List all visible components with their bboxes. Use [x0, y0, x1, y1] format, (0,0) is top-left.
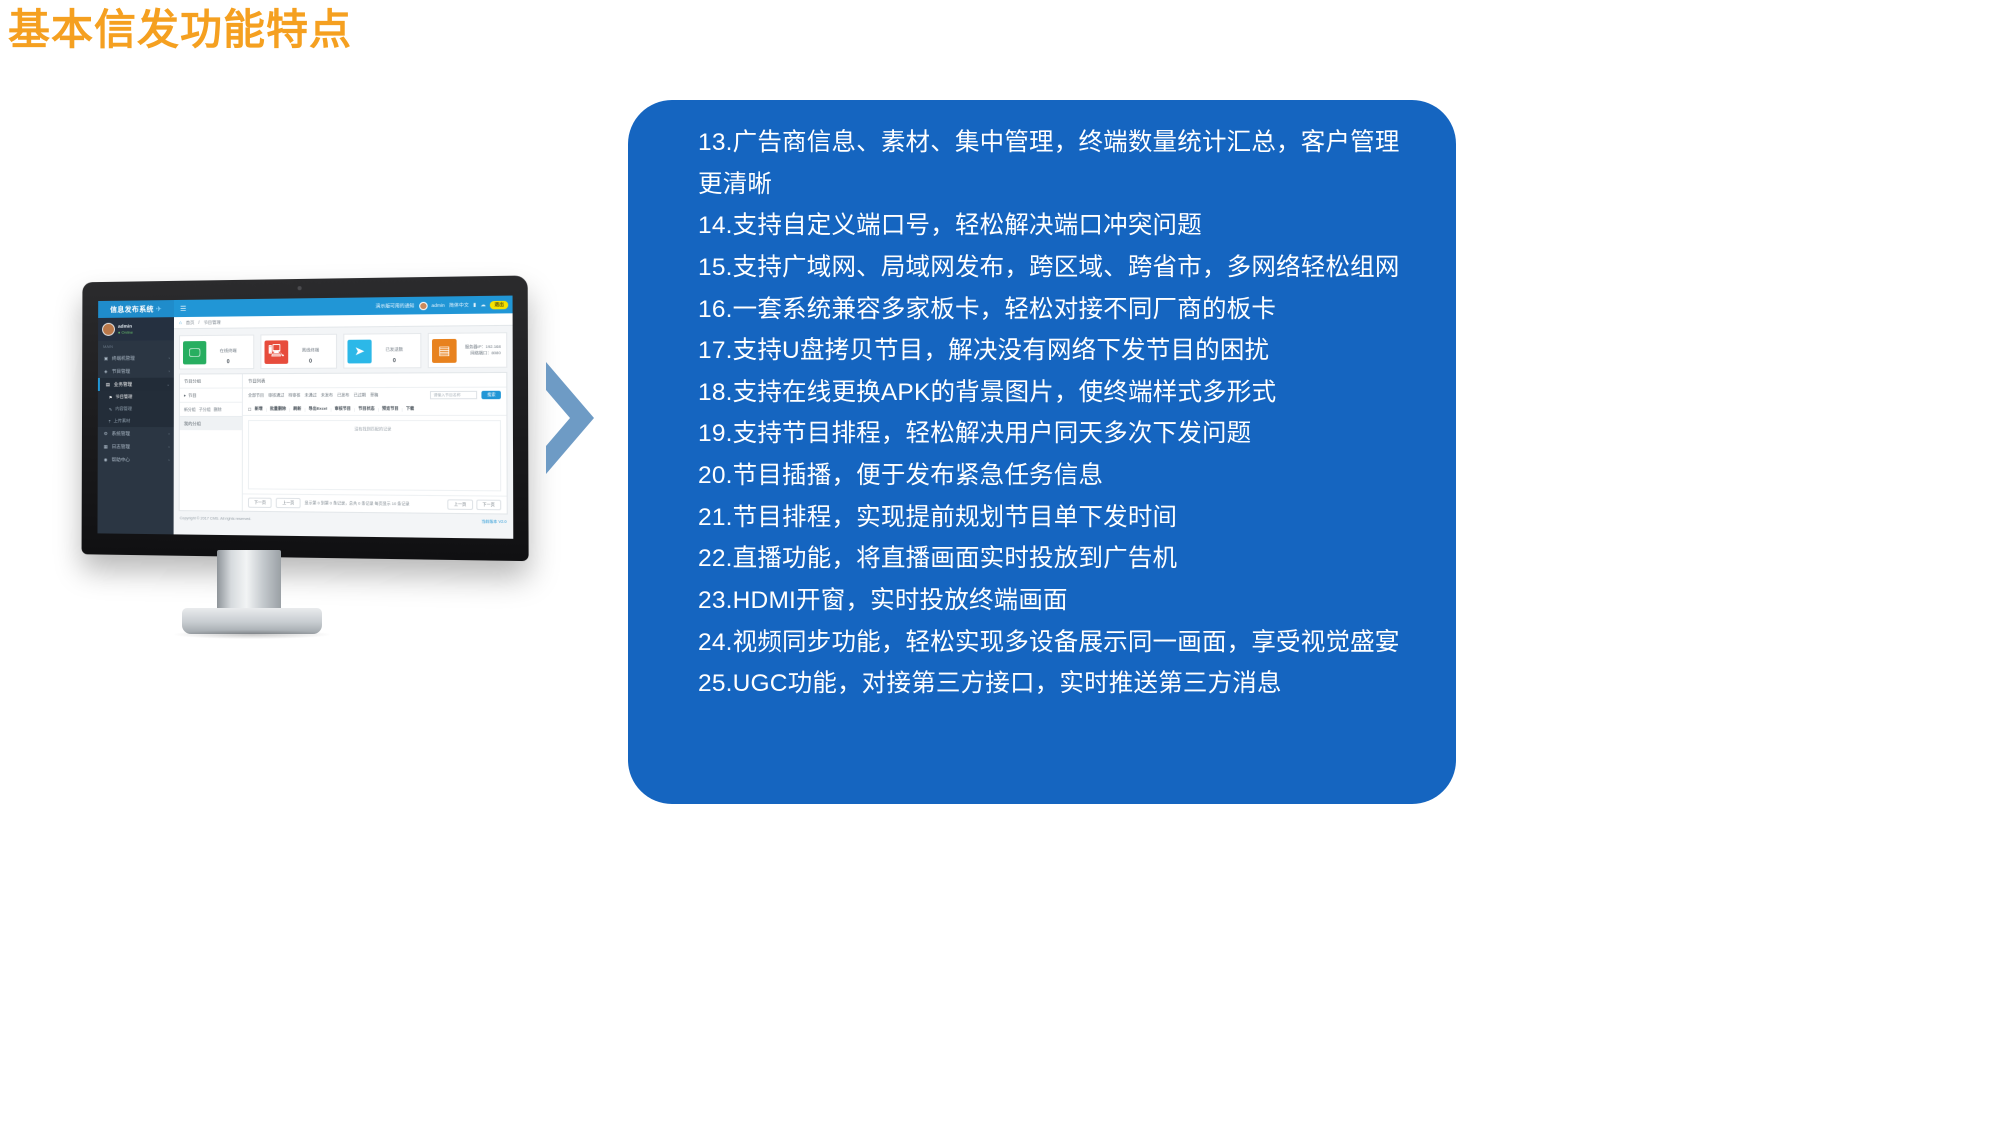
sidebar-subitem-label: 内容管理	[115, 406, 132, 412]
content-panel: 节目分组 ▸ 节目 新分组 子分组 删除 我的分组	[179, 372, 508, 515]
delete-group-button[interactable]: 删除	[214, 406, 222, 412]
my-group-label: 我的分组	[180, 416, 242, 430]
review-program-button[interactable]: 审核节目	[335, 406, 351, 412]
list-item: 13.广告商信息、素材、集中管理，终端数量统计汇总，客户管理更清晰	[698, 122, 1420, 205]
upload-icon: ⤒	[109, 419, 111, 424]
stat-cards: 🖵 在线终端 0 🖳 离线终端 0	[174, 326, 513, 374]
chevron-right-icon: ›	[168, 457, 169, 462]
sidebar-item-label: 节目管理	[112, 368, 130, 374]
breadcrumb-level1[interactable]: 首页	[186, 319, 194, 325]
sidebar-user: admin ● Online	[98, 317, 174, 341]
features-list: 13.广告商信息、素材、集中管理，终端数量统计汇总，客户管理更清晰 14.支持自…	[698, 122, 1420, 705]
monitor-shadow	[174, 630, 330, 639]
app-body: admin ● Online MAIN ▣ 终端机管理 › ◈ 节目管理 ›	[97, 313, 513, 538]
empty-state: 没有找到匹配的记录	[248, 420, 501, 491]
monitor-bezel: 信息发布系统 ✈ ☰ 演示版可用的通知 admin 简体中文 ▮ ☁ 退出	[82, 275, 529, 561]
prev-page-button[interactable]: 上一页	[276, 498, 300, 508]
list-item: 16.一套系统兼容多家板卡，轻松对接不同厂商的板卡	[698, 289, 1420, 331]
sidebar-item-label: 帮助中心	[112, 457, 130, 463]
filter-draft[interactable]: 草稿	[370, 392, 378, 398]
avatar	[102, 323, 115, 336]
stat-card-label: 离线终端	[302, 347, 319, 352]
stat-card-value: 0	[288, 358, 333, 364]
folder-icon: ▸	[184, 393, 186, 398]
search-button[interactable]: 搜索	[482, 391, 501, 399]
topbar-lang-label[interactable]: 简体中文	[449, 302, 469, 308]
home-icon[interactable]: ⌂	[179, 320, 182, 325]
group-tree-toolbar: 新分组 子分组 删除	[180, 402, 242, 416]
stat-card-offline[interactable]: 🖳 离线终端 0	[260, 334, 337, 369]
webcam-icon	[298, 286, 302, 290]
stat-card-value: 0	[372, 358, 417, 364]
separator: |	[402, 406, 403, 411]
desktop-icon: 🖳	[264, 340, 288, 364]
film-icon: ◈	[103, 368, 109, 374]
group-tree-pane: 节目分组 ▸ 节目 新分组 子分组 删除 我的分组	[180, 374, 243, 511]
separator: |	[304, 406, 305, 411]
footer: Copyright © 2017 CMS. All rights reserve…	[174, 511, 514, 525]
app-main: ⌂ 首页 / 节目管理 🖵 在线终端 0	[174, 313, 514, 538]
sidebar-subitem-label: 节目管理	[116, 394, 133, 400]
list-item: 20.节目插播，便于发布紧急任务信息	[698, 455, 1420, 497]
brand-logo-icon: ✈	[156, 305, 162, 313]
filter-unpublished[interactable]: 未发布	[321, 392, 333, 398]
monitor-neck	[217, 550, 281, 612]
version-text: 当前版本 V2.0	[481, 520, 506, 526]
pagination-info: 显示第 0 到第 0 条记录，总共 0 条记录 每页显示 10 条记录	[305, 501, 410, 507]
new-group-button[interactable]: 新分组	[184, 406, 196, 412]
list-item: 24.视频同步功能，轻松实现多设备展示同一画面，享受视觉盛宴	[698, 622, 1420, 664]
pagination-next-button[interactable]: 下一页	[476, 500, 501, 511]
search-input[interactable]: 请输入节目名称	[430, 391, 477, 399]
action-toolbar: ☐ 新增 | 批量删除 | 刷新 | 导出Excel | 审核节目 |	[243, 402, 506, 416]
sidebar-user-status: ● Online	[118, 330, 133, 335]
sidebar-subitem-program-manage[interactable]: ⚑ 节目管理	[98, 391, 174, 403]
breadcrumb-separator: /	[198, 320, 199, 325]
checkbox-select-all[interactable]: ☐	[248, 406, 252, 411]
copyright-text: Copyright © 2017 CMS. All rights reserve…	[180, 516, 252, 522]
program-status-button[interactable]: 节目状态	[358, 406, 374, 412]
bell-icon[interactable]: ▮	[473, 302, 476, 308]
briefcase-icon: ▤	[105, 381, 111, 387]
pencil-icon: ✎	[109, 406, 113, 411]
filter-expired[interactable]: 已过期	[354, 392, 366, 398]
topbar-right-group: 演示版可用的通知 admin 简体中文 ▮ ☁ 退出	[376, 296, 509, 315]
list-item: 21.节目排程，实现提前规划节目单下发时间	[698, 497, 1420, 539]
sidebar-item-label: 系统管理	[112, 431, 130, 437]
separator: |	[354, 406, 355, 411]
sub-group-button[interactable]: 子分组	[199, 406, 211, 412]
program-list-header: 节目列表	[243, 373, 506, 389]
chevron-right-icon	[542, 358, 602, 478]
stat-card-label: 已发送数	[385, 347, 403, 352]
list-item: 15.支持广域网、局域网发布，跨区域、跨省市，多网络轻松组网	[698, 247, 1420, 289]
topbar-user-label[interactable]: admin	[431, 303, 444, 308]
stat-card-label: 在线终端	[220, 348, 237, 353]
add-button[interactable]: 新增	[255, 406, 263, 412]
monitor-screen: 信息发布系统 ✈ ☰ 演示版可用的通知 admin 简体中文 ▮ ☁ 退出	[97, 296, 513, 539]
monitor-illustration: 信息发布系统 ✈ ☰ 演示版可用的通知 admin 简体中文 ▮ ☁ 退出	[82, 278, 522, 648]
stat-card-server[interactable]: ▤ 服务器IP：192.168 网络端口：8080	[428, 332, 508, 368]
separator: |	[289, 406, 290, 411]
sidebar-subitem-content-manage[interactable]: ✎ 内容管理	[98, 403, 174, 415]
flag-icon: ⚑	[109, 394, 113, 399]
filter-all[interactable]: 全部节目	[248, 393, 264, 399]
send-icon: ➤	[347, 339, 371, 363]
logout-button[interactable]: 退出	[490, 300, 508, 309]
help-icon: ◉	[103, 457, 109, 463]
list-item: 25.UGC功能，对接第三方接口，实时推送第三方消息	[698, 663, 1420, 705]
sidebar: admin ● Online MAIN ▣ 终端机管理 › ◈ 节目管理 ›	[97, 317, 174, 534]
preview-program-button[interactable]: 预览节目	[382, 406, 398, 412]
sidebar-item-programs[interactable]: ◈ 节目管理 ›	[98, 365, 174, 378]
group-tree-item-label: 节目	[188, 392, 197, 398]
list-item: 18.支持在线更换APK的背景图片，使终端样式多形式	[698, 372, 1420, 414]
chevron-right-icon: ›	[169, 369, 170, 374]
filter-published[interactable]: 已发布	[337, 392, 349, 398]
monitor-icon: ▣	[103, 355, 109, 361]
list-icon: ▦	[103, 444, 109, 450]
filter-pending[interactable]: 待审核	[288, 392, 300, 398]
chevron-right-icon: ›	[169, 355, 170, 360]
sidebar-item-label: 业务管理	[114, 381, 132, 387]
avatar[interactable]	[419, 301, 428, 309]
list-item: 17.支持U盘拷贝节目，解决没有网络下发节目的困扰	[698, 330, 1420, 372]
pagination-bar: 下一页 上一页 显示第 0 到第 0 条记录，总共 0 条记录 每页显示 10 …	[243, 493, 507, 513]
sidebar-item-label: 终端机管理	[112, 355, 135, 361]
breadcrumb-level2: 节目管理	[204, 319, 221, 325]
page-title: 基本信发功能特点	[8, 4, 352, 57]
next-page-button[interactable]: 下一页	[248, 498, 272, 508]
server-port-label: 网络端口：8080	[457, 350, 501, 356]
list-item: 23.HDMI开窗，实时投放终端画面	[698, 580, 1420, 622]
separator: |	[330, 406, 331, 411]
app-brand-label: 信息发布系统	[110, 304, 154, 315]
sidebar-item-help[interactable]: ◉ 帮助中心 ›	[98, 453, 174, 466]
program-list-pane: 节目列表 全部节目 审核通过 待审核 未通过 未发布 已发布 已过期 草稿 请输	[243, 373, 507, 514]
list-item: 14.支持自定义端口号，轻松解决端口冲突问题	[698, 205, 1420, 247]
app-brand: 信息发布系统 ✈	[98, 300, 174, 318]
sidebar-item-label: 日志管理	[112, 444, 130, 450]
server-icon: ▤	[432, 338, 457, 362]
sidebar-item-logs[interactable]: ▦ 日志管理 ›	[98, 440, 174, 453]
features-panel: 13.广告商信息、素材、集中管理，终端数量统计汇总，客户管理更清晰 14.支持自…	[628, 100, 1456, 804]
group-tree-header: 节目分组	[180, 374, 242, 388]
group-tree-item[interactable]: ▸ 节目	[180, 388, 242, 401]
filter-rejected[interactable]: 未通过	[305, 392, 317, 398]
bulk-delete-button[interactable]: 批量删除	[270, 406, 286, 412]
separator: |	[266, 406, 267, 411]
hamburger-icon[interactable]: ☰	[180, 304, 186, 312]
laptop-icon: 🖵	[183, 341, 206, 364]
sidebar-item-business[interactable]: ▤ 业务管理 ⌄	[98, 378, 174, 391]
download-button[interactable]: 下载	[406, 406, 414, 412]
chevron-right-icon: ›	[168, 431, 169, 436]
gear-icon: ⚙	[103, 431, 109, 437]
export-excel-button[interactable]: 导出Excel	[309, 406, 328, 412]
stat-card-value: 0	[206, 359, 250, 365]
list-item: 19.支持节目排程，轻松解决用户同天多次下发问题	[698, 413, 1420, 455]
sidebar-heading: MAIN	[98, 340, 174, 352]
chevron-down-icon: ⌄	[166, 382, 169, 387]
stat-card-sent[interactable]: ➤ 已发送数 0	[343, 333, 421, 369]
sidebar-item-system[interactable]: ⚙ 系统管理 ›	[98, 427, 174, 440]
sidebar-subitem-upload-material[interactable]: ⤒ 上传素材	[98, 415, 174, 427]
sidebar-subitem-label: 上传素材	[114, 418, 131, 424]
stat-card-online[interactable]: 🖵 在线终端 0	[179, 335, 254, 370]
cloud-icon[interactable]: ☁	[480, 302, 485, 308]
chevron-right-icon: ›	[168, 444, 169, 449]
topbar-notice-label[interactable]: 演示版可用的通知	[376, 303, 415, 310]
filter-approved[interactable]: 审核通过	[268, 392, 284, 398]
separator: |	[378, 406, 379, 411]
sidebar-item-terminals[interactable]: ▣ 终端机管理 ›	[98, 351, 174, 365]
pagination-prev-button[interactable]: 上一页	[448, 499, 473, 510]
list-item: 22.直播功能，将直播画面实时投放到广告机	[698, 538, 1420, 580]
refresh-button[interactable]: 刷新	[293, 406, 301, 412]
filter-row: 全部节目 审核通过 待审核 未通过 未发布 已发布 已过期 草稿 请输入节目名称…	[243, 388, 506, 403]
